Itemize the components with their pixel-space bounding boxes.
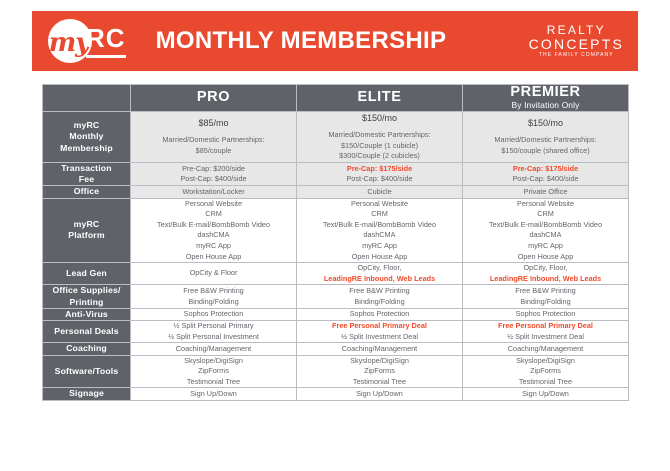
table-body: myRCMonthlyMembership$85/moMarried/Domes… — [43, 112, 629, 401]
brand-line-one: REALTY — [529, 24, 624, 37]
cell-transaction-fee-elite: Pre-Cap: $175/sidePost-Cap: $400/side — [297, 162, 463, 186]
cell-line: ZipForms — [463, 366, 628, 377]
cell-line: Post-Cap: $400/side — [131, 174, 296, 185]
cell-software-tools-premier: Skyslope/DigiSignZipFormsTestimonial Tre… — [463, 355, 629, 388]
cell-line: Sign Up/Down — [131, 389, 296, 400]
plan-header-premier-name: PREMIER — [463, 85, 628, 100]
cell-office-premier: Private Office — [463, 186, 629, 198]
cell-price: $150/mo — [463, 117, 628, 130]
row-label-line: Monthly — [43, 131, 130, 142]
cell-line: myRC App — [131, 241, 296, 252]
table-row: SignageSign Up/DownSign Up/DownSign Up/D… — [43, 388, 629, 400]
cell-signage-pro: Sign Up/Down — [131, 388, 297, 400]
cell-line: Sophos Protection — [131, 309, 296, 320]
membership-comparison-table: PRO ELITE PREMIER By Invitation Only myR… — [42, 84, 629, 401]
row-label-personal-deals: Personal Deals — [43, 321, 131, 343]
cell-line: ½ Split Investment Deal — [463, 332, 628, 343]
cell-myrc-platform-elite: Personal WebsiteCRMText/Bulk E-mail/Bomb… — [297, 198, 463, 262]
cell-line: Private Office — [463, 187, 628, 198]
row-label-line: Lead Gen — [43, 268, 130, 279]
row-label-line: myRC — [43, 219, 130, 230]
row-label-myrc-platform: myRCPlatform — [43, 198, 131, 262]
cell-line: Testimonial Tree — [463, 377, 628, 388]
cell-line: Workstation/Locker — [131, 187, 296, 198]
cell-line: Sophos Protection — [297, 309, 462, 320]
row-label-line: Coaching — [43, 343, 130, 354]
cell-personal-deals-premier: Free Personal Primary Deal½ Split Invest… — [463, 321, 629, 343]
cell-line: OpCity & Floor — [131, 268, 296, 279]
row-label-transaction-fee: TransactionFee — [43, 162, 131, 186]
cell-line: Post-Cap: $400/side — [297, 174, 462, 185]
cell-line: Sign Up/Down — [297, 389, 462, 400]
row-label-office: Office — [43, 186, 131, 198]
cell-line: Coaching/Management — [131, 344, 296, 355]
cell-line: Free B&W Printing — [297, 286, 462, 297]
plan-header-premier-subtitle: By Invitation Only — [463, 101, 628, 110]
page-banner: my RC MONTHLY MEMBERSHIP REALTY CONCEPTS… — [32, 11, 638, 71]
cell-myrc-monthly-membership-elite: $150/moMarried/Domestic Partnerships:$15… — [297, 112, 463, 163]
row-label-line: Membership — [43, 143, 130, 154]
row-label-line: Office — [43, 186, 130, 197]
cell-line: $300/Couple (2 cubicles) — [297, 151, 462, 162]
cell-line: $150/Couple (1 cubicle) — [297, 141, 462, 152]
table-row: OfficeWorkstation/LockerCubiclePrivate O… — [43, 186, 629, 198]
cell-line-highlighted: Free Personal Primary Deal — [297, 321, 462, 332]
row-label-line: Transaction — [43, 163, 130, 174]
table-corner-cell — [43, 85, 131, 112]
cell-line: Binding/Folding — [297, 297, 462, 308]
cell-line: Binding/Folding — [463, 297, 628, 308]
cell-office-supplies-printing-premier: Free B&W PrintingBinding/Folding — [463, 285, 629, 309]
cell-lead-gen-premier: OpCity, Floor,LeadingRE Inbound, Web Lea… — [463, 263, 629, 285]
cell-line: Sign Up/Down — [463, 389, 628, 400]
plan-header-elite: ELITE — [297, 85, 463, 112]
cell-signage-elite: Sign Up/Down — [297, 388, 463, 400]
cell-coaching-pro: Coaching/Management — [131, 343, 297, 355]
cell-line: CRM — [297, 209, 462, 220]
cell-line: Personal Website — [463, 199, 628, 210]
cell-personal-deals-elite: Free Personal Primary Deal½ Split Invest… — [297, 321, 463, 343]
cell-transaction-fee-premier: Pre-Cap: $175/sidePost-Cap: $400/side — [463, 162, 629, 186]
cell-line-highlighted: LeadingRE Inbound, Web Leads — [463, 274, 628, 285]
cell-line: Married/Domestic Partnerships: — [463, 135, 628, 146]
row-label-line: Software/Tools — [43, 366, 130, 377]
row-label-line: myRC — [43, 120, 130, 131]
realty-concepts-logo: REALTY CONCEPTS THE FAMILY COMPANY — [529, 24, 624, 59]
page-title: MONTHLY MEMBERSHIP — [156, 27, 529, 55]
cell-line: Skyslope/DigiSign — [131, 356, 296, 367]
cell-line: Free B&W Printing — [463, 286, 628, 297]
cell-line: myRC App — [463, 241, 628, 252]
table-row: Anti-VirusSophos ProtectionSophos Protec… — [43, 308, 629, 320]
cell-personal-deals-pro: ½ Split Personal Primary½ Split Personal… — [131, 321, 297, 343]
cell-myrc-monthly-membership-premier: $150/moMarried/Domestic Partnerships:$15… — [463, 112, 629, 163]
row-label-line: Office Supplies/ — [43, 285, 130, 296]
cell-line: Testimonial Tree — [297, 377, 462, 388]
table-row: Software/ToolsSkyslope/DigiSignZipFormsT… — [43, 355, 629, 388]
row-label-line: Platform — [43, 230, 130, 241]
myrc-logo-my-text: my — [49, 30, 90, 56]
cell-line: dashCMA — [297, 230, 462, 241]
cell-line: dashCMA — [463, 230, 628, 241]
table-header: PRO ELITE PREMIER By Invitation Only — [43, 85, 629, 112]
row-label-coaching: Coaching — [43, 343, 131, 355]
cell-line: Skyslope/DigiSign — [297, 356, 462, 367]
row-label-lead-gen: Lead Gen — [43, 263, 131, 285]
cell-line: CRM — [131, 209, 296, 220]
cell-office-supplies-printing-elite: Free B&W PrintingBinding/Folding — [297, 285, 463, 309]
brand-line-two: CONCEPTS — [529, 37, 624, 53]
cell-line: Testimonial Tree — [131, 377, 296, 388]
row-label-signage: Signage — [43, 388, 131, 400]
cell-office-pro: Workstation/Locker — [131, 186, 297, 198]
cell-transaction-fee-pro: Pre-Cap: $200/sidePost-Cap: $400/side — [131, 162, 297, 186]
cell-line-highlighted: LeadingRE Inbound, Web Leads — [297, 274, 462, 285]
plan-header-pro: PRO — [131, 85, 297, 112]
table-header-row: PRO ELITE PREMIER By Invitation Only — [43, 85, 629, 112]
cell-line: Open House App — [131, 252, 296, 263]
row-label-software-tools: Software/Tools — [43, 355, 131, 388]
table-row: CoachingCoaching/ManagementCoaching/Mana… — [43, 343, 629, 355]
cell-line: OpCity, Floor, — [297, 263, 462, 274]
cell-anti-virus-pro: Sophos Protection — [131, 308, 297, 320]
row-label-line: Printing — [43, 297, 130, 308]
cell-line: myRC App — [297, 241, 462, 252]
row-label-line: Signage — [43, 388, 130, 399]
cell-line: ZipForms — [131, 366, 296, 377]
plan-header-pro-name: PRO — [131, 90, 296, 105]
row-label-anti-virus: Anti-Virus — [43, 308, 131, 320]
cell-line: Skyslope/DigiSign — [463, 356, 628, 367]
cell-office-elite: Cubicle — [297, 186, 463, 198]
cell-line: Personal Website — [131, 199, 296, 210]
cell-line: $150/couple (shared office) — [463, 146, 628, 157]
cell-line: ½ Split Investment Deal — [297, 332, 462, 343]
row-label-office-supplies-printing: Office Supplies/Printing — [43, 285, 131, 309]
cell-coaching-elite: Coaching/Management — [297, 343, 463, 355]
cell-line: $85/couple — [131, 146, 296, 157]
cell-line: Sophos Protection — [463, 309, 628, 320]
cell-line: Text/Bulk E-mail/BombBomb Video — [463, 220, 628, 231]
cell-line-highlighted: Pre-Cap: $175/side — [297, 164, 462, 175]
myrc-logo: my RC — [48, 19, 126, 63]
cell-line: Open House App — [463, 252, 628, 263]
cell-anti-virus-elite: Sophos Protection — [297, 308, 463, 320]
myrc-logo-rc-group: RC — [86, 25, 126, 58]
cell-lead-gen-pro: OpCity & Floor — [131, 263, 297, 285]
cell-price: $85/mo — [131, 117, 296, 130]
table-row: myRCMonthlyMembership$85/moMarried/Domes… — [43, 112, 629, 163]
cell-line: Open House App — [297, 252, 462, 263]
brand-tagline: THE FAMILY COMPANY — [529, 53, 624, 59]
plan-header-elite-name: ELITE — [297, 90, 462, 105]
cell-line: Text/Bulk E-mail/BombBomb Video — [131, 220, 296, 231]
cell-line: Coaching/Management — [463, 344, 628, 355]
row-label-line: Fee — [43, 174, 130, 185]
table-row: TransactionFeePre-Cap: $200/sidePost-Cap… — [43, 162, 629, 186]
cell-line: Married/Domestic Partnerships: — [297, 130, 462, 141]
cell-line: Binding/Folding — [131, 297, 296, 308]
table-row: Lead GenOpCity & FloorOpCity, Floor,Lead… — [43, 263, 629, 285]
cell-line: Pre-Cap: $200/side — [131, 164, 296, 175]
cell-office-supplies-printing-pro: Free B&W PrintingBinding/Folding — [131, 285, 297, 309]
cell-myrc-platform-pro: Personal WebsiteCRMText/Bulk E-mail/Bomb… — [131, 198, 297, 262]
cell-myrc-monthly-membership-pro: $85/moMarried/Domestic Partnerships:$85/… — [131, 112, 297, 163]
cell-line: Text/Bulk E-mail/BombBomb Video — [297, 220, 462, 231]
cell-line: Cubicle — [297, 187, 462, 198]
cell-price: $150/mo — [297, 112, 462, 125]
cell-myrc-platform-premier: Personal WebsiteCRMText/Bulk E-mail/Bomb… — [463, 198, 629, 262]
row-label-line: Anti-Virus — [43, 309, 130, 320]
plan-header-premier: PREMIER By Invitation Only — [463, 85, 629, 112]
cell-line-highlighted: Pre-Cap: $175/side — [463, 164, 628, 175]
cell-line: dashCMA — [131, 230, 296, 241]
table-row: myRCPlatformPersonal WebsiteCRMText/Bulk… — [43, 198, 629, 262]
table-row: Personal Deals½ Split Personal Primary½ … — [43, 321, 629, 343]
cell-line: OpCity, Floor, — [463, 263, 628, 274]
cell-line: ZipForms — [297, 366, 462, 377]
cell-line: Coaching/Management — [297, 344, 462, 355]
cell-line: Personal Website — [297, 199, 462, 210]
cell-lead-gen-elite: OpCity, Floor,LeadingRE Inbound, Web Lea… — [297, 263, 463, 285]
cell-anti-virus-premier: Sophos Protection — [463, 308, 629, 320]
cell-coaching-premier: Coaching/Management — [463, 343, 629, 355]
membership-comparison-page: my RC MONTHLY MEMBERSHIP REALTY CONCEPTS… — [0, 0, 670, 471]
cell-line: CRM — [463, 209, 628, 220]
cell-line: Married/Domestic Partnerships: — [131, 135, 296, 146]
cell-line: ½ Split Personal Primary — [131, 321, 296, 332]
row-label-myrc-monthly-membership: myRCMonthlyMembership — [43, 112, 131, 163]
cell-software-tools-pro: Skyslope/DigiSignZipFormsTestimonial Tre… — [131, 355, 297, 388]
cell-line: Free B&W Printing — [131, 286, 296, 297]
row-label-line: Personal Deals — [43, 326, 130, 337]
cell-line-highlighted: Free Personal Primary Deal — [463, 321, 628, 332]
table-row: Office Supplies/PrintingFree B&W Printin… — [43, 285, 629, 309]
cell-software-tools-elite: Skyslope/DigiSignZipFormsTestimonial Tre… — [297, 355, 463, 388]
cell-line: Post-Cap: $400/side — [463, 174, 628, 185]
myrc-logo-underline — [86, 55, 126, 58]
cell-line: ½ Split Personal Investment — [131, 332, 296, 343]
cell-signage-premier: Sign Up/Down — [463, 388, 629, 400]
myrc-logo-rc-text: RC — [86, 25, 126, 51]
